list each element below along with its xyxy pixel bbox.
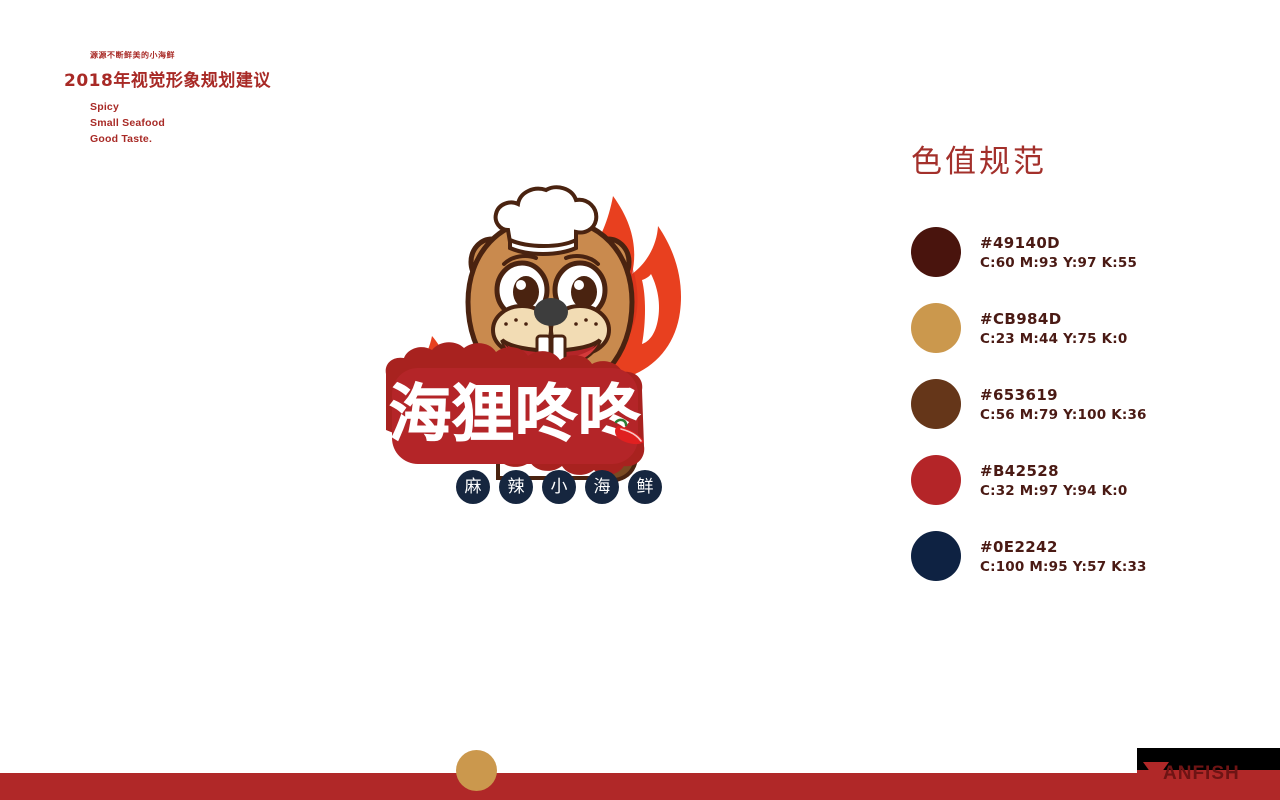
color-spec-panel: 色值规范 #49140D C:60 M:93 Y:97 K:55 #CB984D…	[911, 136, 1241, 581]
descriptor-badge: 鲜	[628, 470, 662, 504]
swatch-color-dot	[911, 455, 961, 505]
swatch-text: #0E2242 C:100 M:95 Y:57 K:33	[980, 538, 1147, 575]
swatch-row: #653619 C:56 M:79 Y:100 K:36	[911, 379, 1241, 429]
footer-bar	[0, 773, 1280, 800]
swatch-cmyk-value: C:32 M:97 Y:94 K:0	[980, 483, 1127, 499]
swatch-list: #49140D C:60 M:93 Y:97 K:55 #CB984D C:23…	[911, 227, 1241, 581]
chili-pepper-icon	[608, 416, 648, 450]
swatch-cmyk-value: C:60 M:93 Y:97 K:55	[980, 255, 1137, 271]
page-title: 2018年视觉形象规划建议	[64, 66, 364, 91]
descriptor-badge: 辣	[499, 470, 533, 504]
tagline-line-3: Good Taste.	[90, 132, 364, 148]
descriptor-char: 小	[551, 479, 568, 496]
swatch-text: #CB984D C:23 M:44 Y:75 K:0	[980, 310, 1127, 347]
swatch-hex-value: #653619	[980, 386, 1147, 404]
swatch-color-dot	[911, 379, 961, 429]
swatch-text: #49140D C:60 M:93 Y:97 K:55	[980, 234, 1137, 271]
descriptor-char: 海	[594, 479, 611, 496]
swatch-hex-value: #B42528	[980, 462, 1127, 480]
swatch-row: #B42528 C:32 M:97 Y:94 K:0	[911, 455, 1241, 505]
tagline-line-2: Small Seafood	[90, 116, 364, 132]
descriptor-badge-row: 麻 辣 小 海 鲜	[456, 470, 662, 504]
brand-logo-lockup: 海狸咚咚 麻 辣 小 海 鲜	[370, 178, 750, 523]
descriptor-char: 鲜	[637, 479, 654, 496]
swatch-hex-value: #49140D	[980, 234, 1137, 252]
swatch-cmyk-value: C:100 M:95 Y:57 K:33	[980, 559, 1147, 575]
swatch-color-dot	[911, 227, 961, 277]
header-kicker: 源源不断鲜美的小海鲜	[90, 50, 364, 60]
swatch-color-dot	[911, 531, 961, 581]
swatch-color-dot	[911, 303, 961, 353]
descriptor-badge: 麻	[456, 470, 490, 504]
swatch-row: #0E2242 C:100 M:95 Y:57 K:33	[911, 531, 1241, 581]
watermark-logo: ANFISH	[1137, 748, 1280, 781]
brand-name-text-wrap: 海狸咚咚	[392, 366, 638, 462]
swatch-text: #B42528 C:32 M:97 Y:94 K:0	[980, 462, 1127, 499]
descriptor-char: 辣	[508, 479, 525, 496]
swatch-text: #653619 C:56 M:79 Y:100 K:36	[980, 386, 1147, 423]
watermark-text: ANFISH	[1163, 763, 1240, 781]
swatch-row: #49140D C:60 M:93 Y:97 K:55	[911, 227, 1241, 277]
header-tagline: Spicy Small Seafood Good Taste.	[90, 100, 364, 147]
swatch-cmyk-value: C:23 M:44 Y:75 K:0	[980, 331, 1127, 347]
slide-header: 源源不断鲜美的小海鲜 2018年视觉形象规划建议 Spicy Small Sea…	[64, 50, 364, 147]
spec-panel-title: 色值规范	[911, 136, 1241, 181]
tagline-line-1: Spicy	[90, 100, 364, 116]
swatch-cmyk-value: C:56 M:79 Y:100 K:36	[980, 407, 1147, 423]
swatch-hex-value: #0E2242	[980, 538, 1147, 556]
swatch-hex-value: #CB984D	[980, 310, 1127, 328]
brand-name: 海狸咚咚	[389, 383, 641, 445]
descriptor-badge: 小	[542, 470, 576, 504]
footer-accent-dot	[456, 750, 497, 791]
descriptor-badge: 海	[585, 470, 619, 504]
descriptor-char: 麻	[465, 479, 482, 496]
swatch-row: #CB984D C:23 M:44 Y:75 K:0	[911, 303, 1241, 353]
